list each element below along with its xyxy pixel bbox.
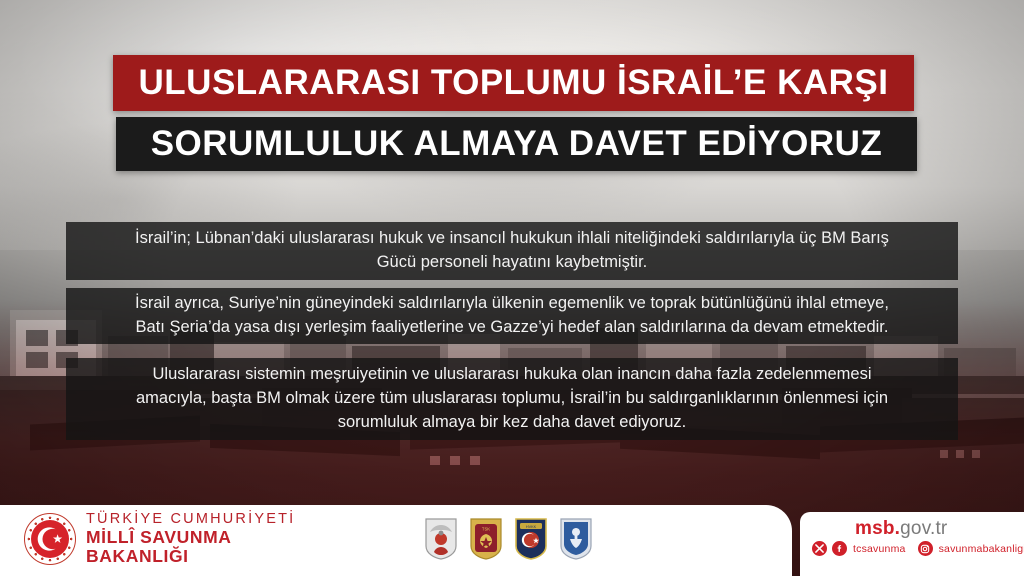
armed-forces-emblems: TSK HVKK	[424, 515, 604, 563]
statement-paragraph-1: İsrail’in; Lübnan’daki uluslararası huku…	[66, 222, 958, 280]
headline-line-2: SORUMLULUK ALMAYA DAVET EDİYORUZ	[151, 124, 883, 164]
website-tld: gov.tr	[900, 518, 947, 539]
turkish-armed-forces-emblem-icon	[424, 517, 458, 561]
turkey-ministry-seal-icon	[24, 513, 76, 565]
headline-bar-primary: ULUSLARARASI TOPLUMU İSRAİL’E KARŞI	[113, 55, 914, 111]
land-forces-emblem-icon: TSK	[469, 517, 503, 561]
headline-line-1: ULUSLARARASI TOPLUMU İSRAİL’E KARŞI	[139, 63, 889, 103]
paragraph-line: İsrail ayrıca, Suriye’nin güneyindeki sa…	[135, 292, 889, 316]
logo-line-country: TÜRKİYE CUMHURİYETİ	[86, 512, 324, 528]
paragraph-line: amacıyla, başta BM olmak üzere tüm ulusl…	[136, 387, 888, 411]
statement-paragraph-2: İsrail ayrıca, Suriye’nin güneyindeki sa…	[66, 288, 958, 344]
facebook-icon[interactable]	[832, 541, 847, 556]
statement-paragraph-3: Uluslararası sistemin meşruiyetinin ve u…	[66, 358, 958, 440]
paragraph-line: İsrail’in; Lübnan’daki uluslararası huku…	[135, 227, 889, 251]
svg-text:HVKK: HVKK	[526, 525, 537, 529]
paragraph-line: Gücü personeli hayatını kaybetmiştir.	[377, 251, 648, 275]
paragraph-line: Batı Şeria’da yasa dışı yerleşim faaliye…	[136, 316, 889, 340]
social-links: tcsavunma savunmabakanligi	[812, 541, 1024, 556]
x-twitter-icon[interactable]	[812, 541, 827, 556]
svg-text:TSK: TSK	[482, 527, 490, 532]
website-brand: msb	[855, 518, 895, 539]
facebook-handle[interactable]: tcsavunma	[853, 543, 906, 555]
paragraph-line: Uluslararası sistemin meşruiyetinin ve u…	[152, 363, 871, 387]
instagram-handle[interactable]: savunmabakanligi	[939, 543, 1024, 555]
naval-forces-emblem-icon	[559, 517, 593, 561]
air-force-emblem-icon: HVKK	[514, 517, 548, 561]
poster-canvas: ULUSLARARASI TOPLUMU İSRAİL’E KARŞI SORU…	[0, 0, 1024, 576]
ministry-logo-lockup: TÜRKİYE CUMHURİYETİ MİLLÎ SAVUNMA BAKANL…	[24, 511, 324, 567]
instagram-icon[interactable]	[918, 541, 933, 556]
headline-bar-secondary: SORUMLULUK ALMAYA DAVET EDİYORUZ	[116, 117, 917, 171]
logo-line-ministry: MİLLÎ SAVUNMA BAKANLIĞI	[86, 528, 324, 566]
paragraph-line: sorumluluk almaya bir kez daha davet edi…	[338, 411, 687, 435]
website-url[interactable]: msb.gov.tr	[855, 518, 947, 540]
ministry-logo-text: TÜRKİYE CUMHURİYETİ MİLLÎ SAVUNMA BAKANL…	[86, 512, 324, 565]
